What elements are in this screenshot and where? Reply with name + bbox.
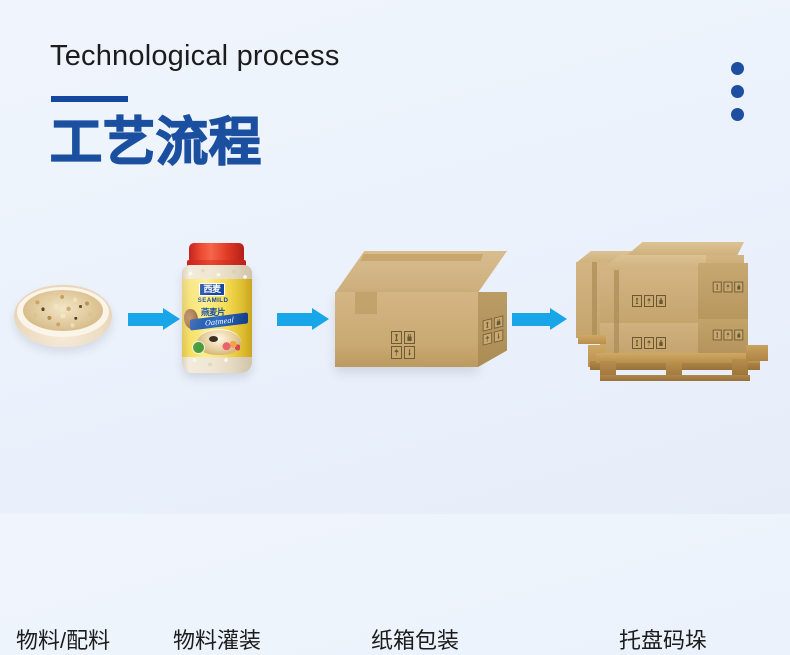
this-way-up-icon: [734, 282, 743, 293]
umbrella-keep-dry-icon: [483, 332, 492, 346]
this-way-up-icon: [734, 330, 743, 341]
fragile-glass-icon: [632, 295, 642, 307]
dot-1: [731, 62, 744, 75]
shipping-marks-top-left: [632, 295, 666, 307]
page-title-chinese: 工艺流程: [50, 117, 340, 169]
shipping-marks-front-row2: [391, 346, 415, 359]
process-flow-diagram: 西麦 SEAMILD 燕麦片 Oatmeal: [0, 225, 790, 450]
shipping-marks-bottom-right: [713, 330, 744, 341]
arrow-shaft: [277, 313, 313, 326]
arrow-shaft: [512, 313, 551, 326]
flow-arrow-3: [512, 308, 568, 330]
fragile-glass-icon: [632, 337, 642, 349]
carton-tape-flap: [355, 292, 377, 314]
carton-top-seam: [361, 254, 484, 261]
dot-2: [731, 85, 744, 98]
shipping-marks-top-right: [713, 282, 744, 293]
fragile-glass-icon: [483, 318, 492, 332]
umbrella-keep-dry-icon: [391, 346, 402, 359]
this-way-up-icon: [656, 337, 666, 349]
fragile-glass-icon: [713, 282, 722, 293]
this-way-up-icon: [404, 331, 415, 344]
flow-arrow-1: [128, 308, 180, 330]
this-way-up-icon: [494, 315, 503, 329]
bowl-of-oats-icon: [14, 285, 112, 351]
this-way-up-icon: [656, 295, 666, 307]
umbrella-keep-dry-icon: [644, 295, 654, 307]
arrow-head: [312, 308, 329, 330]
handling-mark-icon: [494, 329, 503, 343]
handling-mark-icon: [404, 346, 415, 359]
arrow-shaft: [128, 313, 164, 326]
shipping-marks-bottom-left: [632, 337, 666, 349]
fragile-glass-icon: [713, 330, 722, 341]
step-label-1: 物料/配料: [16, 623, 110, 655]
step-label-3: 纸箱包装: [371, 623, 459, 655]
step-label-4: 托盘码垛: [619, 623, 707, 655]
dot-3: [731, 108, 744, 121]
cardboard-carton-icon: [335, 251, 507, 373]
oat-flakes: [23, 290, 103, 331]
oatmeal-jar-icon: 西麦 SEAMILD 燕麦片 Oatmeal: [178, 243, 256, 373]
label-gloss-highlight: [182, 279, 252, 357]
three-dots-vertical-icon[interactable]: [731, 62, 744, 121]
title-underline-rule: [51, 96, 128, 102]
flow-arrow-2: [277, 308, 329, 330]
umbrella-keep-dry-icon: [724, 282, 733, 293]
shipping-marks-front-row1: [391, 331, 415, 344]
jar-body: 西麦 SEAMILD 燕麦片 Oatmeal: [182, 265, 252, 373]
jar-label: 西麦 SEAMILD 燕麦片 Oatmeal: [182, 279, 252, 357]
step-label-2: 物料灌装: [173, 623, 261, 655]
umbrella-keep-dry-icon: [644, 337, 654, 349]
fragile-glass-icon: [391, 331, 402, 344]
page-header: Technological process 工艺流程: [50, 40, 340, 169]
umbrella-keep-dry-icon: [724, 330, 733, 341]
palletized-boxes-icon: [570, 233, 772, 381]
arrow-head: [550, 308, 567, 330]
page-title-english: Technological process: [50, 40, 340, 73]
